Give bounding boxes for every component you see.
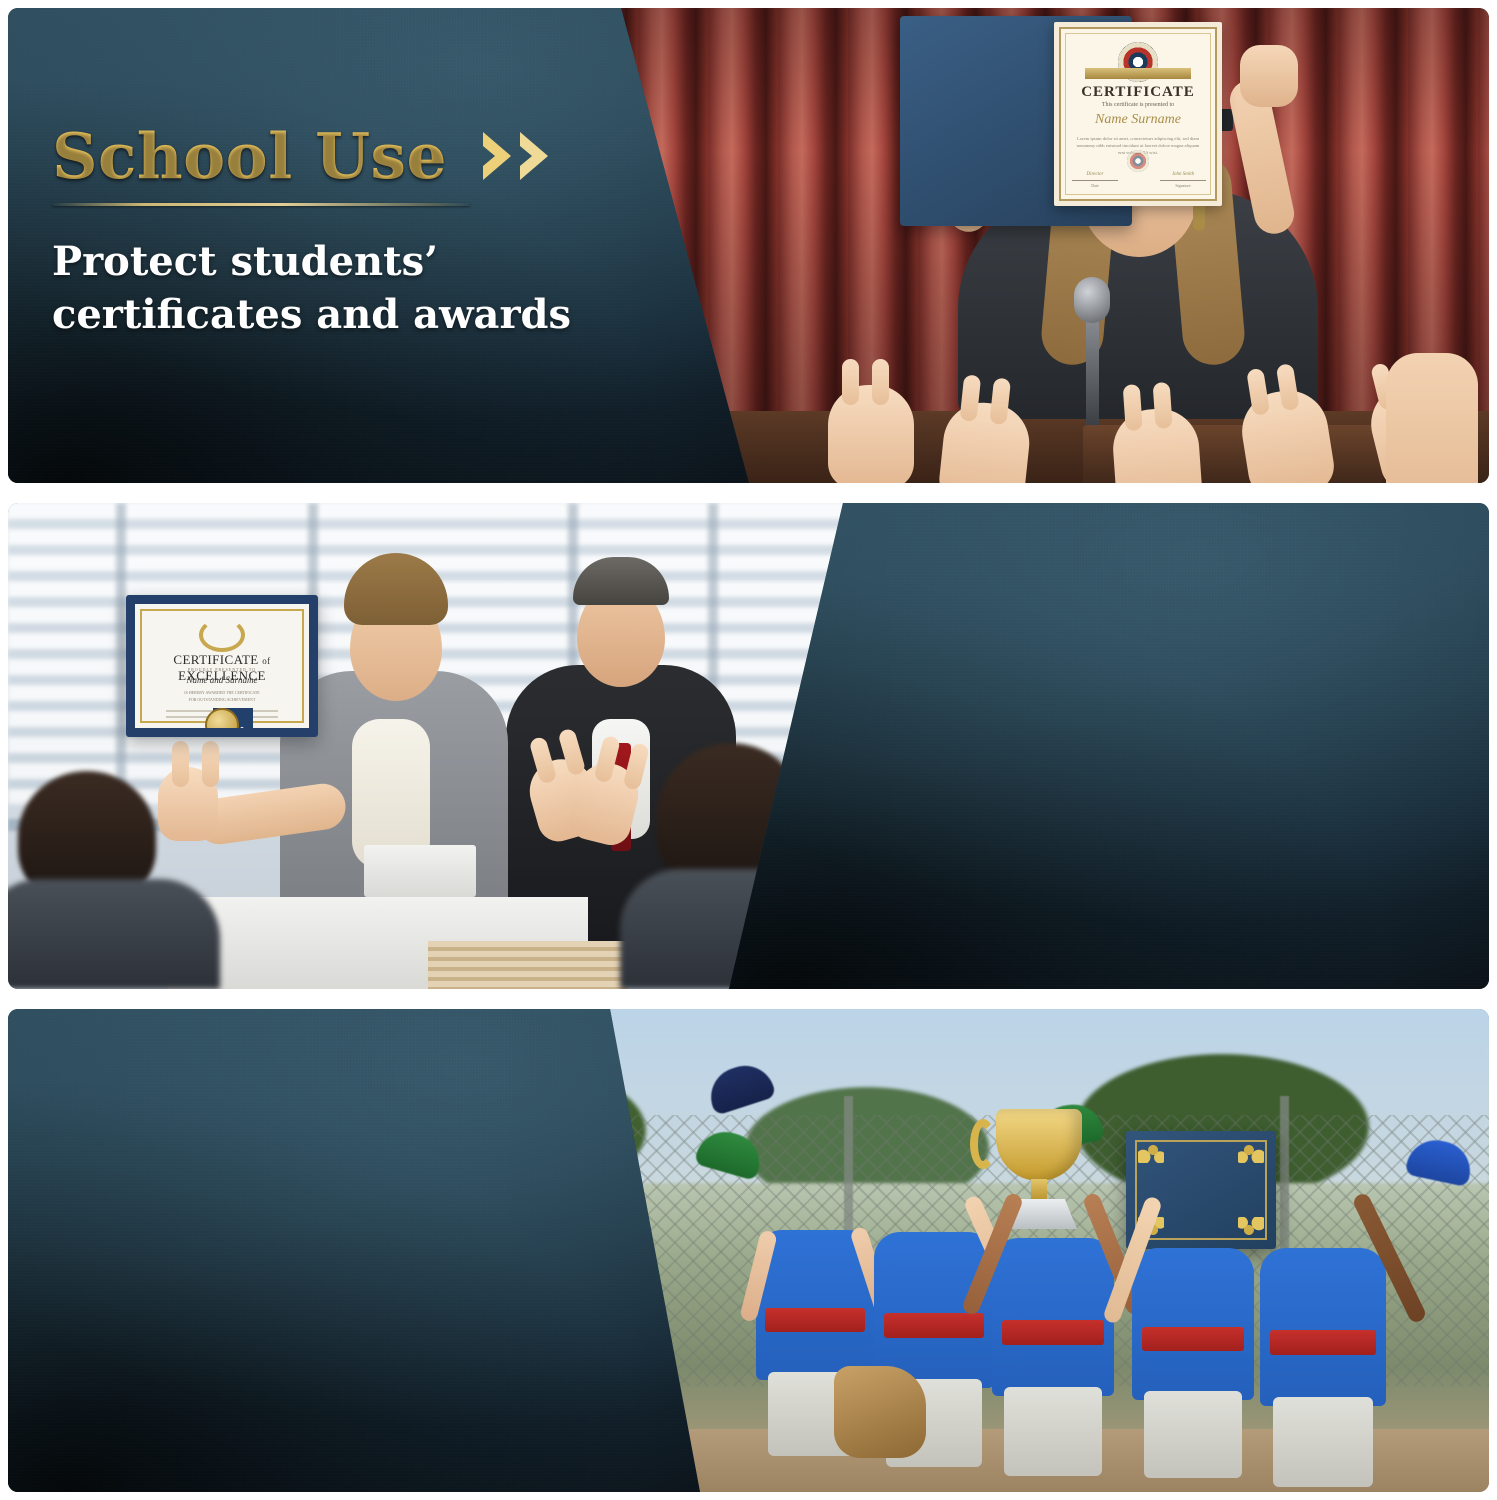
ce-title-part-1: CERTIFICATE [173, 652, 258, 667]
microphone-stand [1086, 313, 1099, 425]
certificate-recipient-name: Name Surname [1054, 112, 1222, 128]
lectern-top [364, 845, 476, 897]
signature-name-left: Director [1072, 172, 1118, 177]
signature-name-right: John Smith [1160, 172, 1206, 177]
signature-label-right: Signature [1160, 183, 1206, 188]
kid-5-jersey [1260, 1248, 1386, 1406]
window-mullion-1 [116, 503, 126, 804]
kid-4-pants [1144, 1391, 1242, 1477]
gold-medal-seal [205, 708, 239, 737]
school-subtitle-line-2: certificates and awards [52, 289, 571, 342]
kid-4 [1132, 1184, 1254, 1400]
signature-line-right [1160, 180, 1206, 181]
school-heading-row: School Use [52, 124, 571, 188]
school-subtitle: Protect students’ certificates and award… [52, 236, 571, 342]
signature-label-left: Date [1072, 183, 1118, 188]
audience-shoulder-left [8, 879, 220, 989]
navy-overlay-business [729, 503, 1489, 989]
kid-3 [992, 1174, 1114, 1396]
kid-5 [1260, 1180, 1386, 1406]
microphone-head [1074, 277, 1110, 323]
kid-3-pants [1004, 1387, 1102, 1476]
signature-line-left [1072, 180, 1118, 181]
ce-title-part-2: of [262, 656, 270, 666]
baseball-glove [834, 1366, 926, 1458]
certificate-ribbon [1085, 68, 1191, 79]
panel-school-use: CERTIFICATE This certificate is presente… [8, 8, 1489, 483]
school-use-text-block: School Use Protect students’ certificate… [52, 124, 571, 342]
audience-hand-1 [828, 385, 914, 483]
certificate-excellence-line-2: FOR OUTSTANDING ACHIEVEMENT [135, 697, 309, 702]
kid-3-jersey [992, 1238, 1114, 1396]
certificate-title: CERTIFICATE [1054, 84, 1222, 101]
certificate-excellence-subtitle: PROUDLY PRESENTED TO [135, 667, 309, 672]
graduate-fist-right [1240, 45, 1298, 107]
certificate-excellence-line-1: IS HEREBY AWARDED THE CERTIFICATE [135, 690, 309, 695]
trophy-handle-left [970, 1119, 996, 1169]
lectern-wood-slats [428, 941, 628, 989]
certificate-of-excellence: CERTIFICATE of EXCELLENCE PROUDLY PRESEN… [126, 595, 318, 737]
certificate-foil-seal [1127, 150, 1149, 172]
school-heading: School Use [52, 124, 447, 188]
kid-5-pants [1273, 1397, 1374, 1487]
plaque-corner-ornament-tl [1138, 1143, 1164, 1163]
laurel-wreath-icon [199, 618, 245, 652]
school-divider-rule [52, 203, 470, 206]
double-chevron-right-icon [481, 130, 552, 182]
kid-4-jersey [1132, 1248, 1254, 1400]
woman-hand [158, 767, 218, 841]
kid-1 [756, 1170, 874, 1380]
school-subtitle-line-1: Protect students’ [52, 236, 571, 289]
audience-arm [1386, 353, 1478, 483]
marketing-image-stage: CERTIFICATE This certificate is presente… [0, 0, 1497, 1500]
panel-award-use: Award Use Give athletes more encourageme… [8, 1009, 1489, 1492]
panel-business-use: CERTIFICATE of EXCELLENCE PROUDLY PRESEN… [8, 503, 1489, 989]
certificate-document: CERTIFICATE This certificate is presente… [1054, 22, 1222, 206]
certificate-excellence-name: Name and Surname [135, 675, 309, 685]
plaque-corner-ornament-tr [1238, 1143, 1264, 1163]
certificate-presented-line: This certificate is presented to [1054, 102, 1222, 108]
